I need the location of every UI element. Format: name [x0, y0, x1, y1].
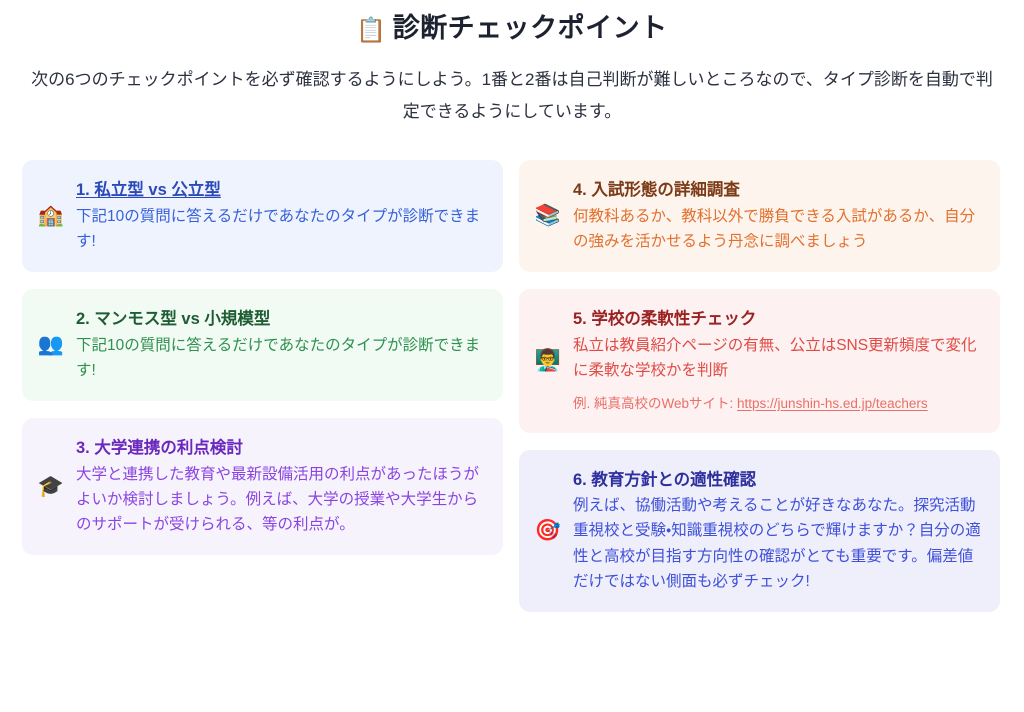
checkpoint-card-5-note-prefix: 例. 純真高校のWebサイト:	[573, 396, 737, 411]
man-teacher-icon: 👨‍🏫	[533, 350, 563, 371]
clipboard-icon: 📋	[356, 16, 386, 44]
checkpoint-card-2-body: 下記10の質問に答えるだけであなたのタイプが診断できます!	[76, 333, 485, 383]
page-header: 📋診断チェックポイント 次の6つのチェックポイントを必ず確認するようにしよう。1…	[0, 0, 1024, 127]
checkpoint-card-1-body: 下記10の質問に答えるだけであなたのタイプが診断できます!	[76, 204, 485, 254]
checkpoint-card-4[interactable]: 📚 4. 入試形態の詳細調査 何教科あるか、教科以外で勝負できる入試があるか、自…	[519, 160, 1000, 272]
busts-in-silhouette-icon: 👥	[36, 334, 66, 355]
page-title-text: 診断チェックポイント	[393, 13, 668, 43]
checkpoint-card-4-content: 4. 入試形態の詳細調査 何教科あるか、教科以外で勝負できる入試があるか、自分の…	[573, 178, 982, 254]
checkpoint-card-6-body: 例えば、協働活動や考えることが好きなあなた。探究活動重視校と受験・知識重視校のど…	[573, 493, 982, 593]
school-building-icon: 🏫	[36, 205, 66, 226]
cards-column-left: 🏫 1. 私立型 vs 公立型 下記10の質問に答えるだけであなたのタイプが診断…	[22, 160, 503, 555]
checkpoint-page: 📋診断チェックポイント 次の6つのチェックポイントを必ず確認するようにしよう。1…	[0, 0, 1024, 712]
checkpoint-card-6-title: 6. 教育方針との適性確認	[573, 468, 982, 493]
page-subtitle: 次の6つのチェックポイントを必ず確認するようにしよう。1番と2番は自己判断が難し…	[28, 64, 996, 127]
checkpoint-card-5-note: 例. 純真高校のWebサイト: https://junshin-hs.ed.jp…	[573, 393, 982, 415]
checkpoint-card-2[interactable]: 👥 2. マンモス型 vs 小規模型 下記10の質問に答えるだけであなたのタイプ…	[22, 289, 503, 401]
checkpoint-card-5-body: 私立は教員紹介ページの有無、公立はSNS更新頻度で変化に柔軟な学校かを判断	[573, 333, 982, 383]
checkpoint-card-3[interactable]: 🎓 3. 大学連携の利点検討 大学と連携した教育や最新設備活用の利点があったほう…	[22, 418, 503, 555]
checkpoint-card-1[interactable]: 🏫 1. 私立型 vs 公立型 下記10の質問に答えるだけであなたのタイプが診断…	[22, 160, 503, 272]
cards-column-right: 📚 4. 入試形態の詳細調査 何教科あるか、教科以外で勝負できる入試があるか、自…	[519, 160, 1000, 612]
direct-hit-target-icon: 🎯	[533, 520, 563, 541]
checkpoint-card-3-content: 3. 大学連携の利点検討 大学と連携した教育や最新設備活用の利点があったほうがよ…	[76, 436, 485, 537]
checkpoint-card-5[interactable]: 👨‍🏫 5. 学校の柔軟性チェック 私立は教員紹介ページの有無、公立はSNS更新…	[519, 289, 1000, 433]
checkpoint-card-5-content: 5. 学校の柔軟性チェック 私立は教員紹介ページの有無、公立はSNS更新頻度で変…	[573, 307, 982, 415]
checkpoint-card-1-content: 1. 私立型 vs 公立型 下記10の質問に答えるだけであなたのタイプが診断でき…	[76, 178, 485, 254]
checkpoint-card-6[interactable]: 🎯 6. 教育方針との適性確認 例えば、協働活動や考えることが好きなあなた。探究…	[519, 450, 1000, 612]
checkpoint-card-3-body: 大学と連携した教育や最新設備活用の利点があったほうがよいか検討しましょう。例えば…	[76, 462, 485, 537]
books-icon: 📚	[533, 205, 563, 226]
checkpoint-card-4-title: 4. 入試形態の詳細調査	[573, 178, 982, 203]
checkpoint-card-3-title: 3. 大学連携の利点検討	[76, 436, 485, 461]
junshin-highschool-website-link[interactable]: https://junshin-hs.ed.jp/teachers	[737, 396, 928, 411]
checkpoint-card-6-content: 6. 教育方針との適性確認 例えば、協働活動や考えることが好きなあなた。探究活動…	[573, 468, 982, 594]
checkpoint-card-2-content: 2. マンモス型 vs 小規模型 下記10の質問に答えるだけであなたのタイプが診…	[76, 307, 485, 383]
graduation-cap-icon: 🎓	[36, 476, 66, 497]
page-title: 📋診断チェックポイント	[0, 10, 1024, 46]
checkpoint-card-2-title: 2. マンモス型 vs 小規模型	[76, 307, 485, 332]
checkpoint-card-5-title: 5. 学校の柔軟性チェック	[573, 307, 982, 332]
checkpoint-card-1-title: 1. 私立型 vs 公立型	[76, 178, 485, 203]
checkpoint-card-4-body: 何教科あるか、教科以外で勝負できる入試があるか、自分の強みを活かせるよう丹念に調…	[573, 204, 982, 254]
checkpoint-cards-grid: 🏫 1. 私立型 vs 公立型 下記10の質問に答えるだけであなたのタイプが診断…	[22, 160, 1000, 612]
